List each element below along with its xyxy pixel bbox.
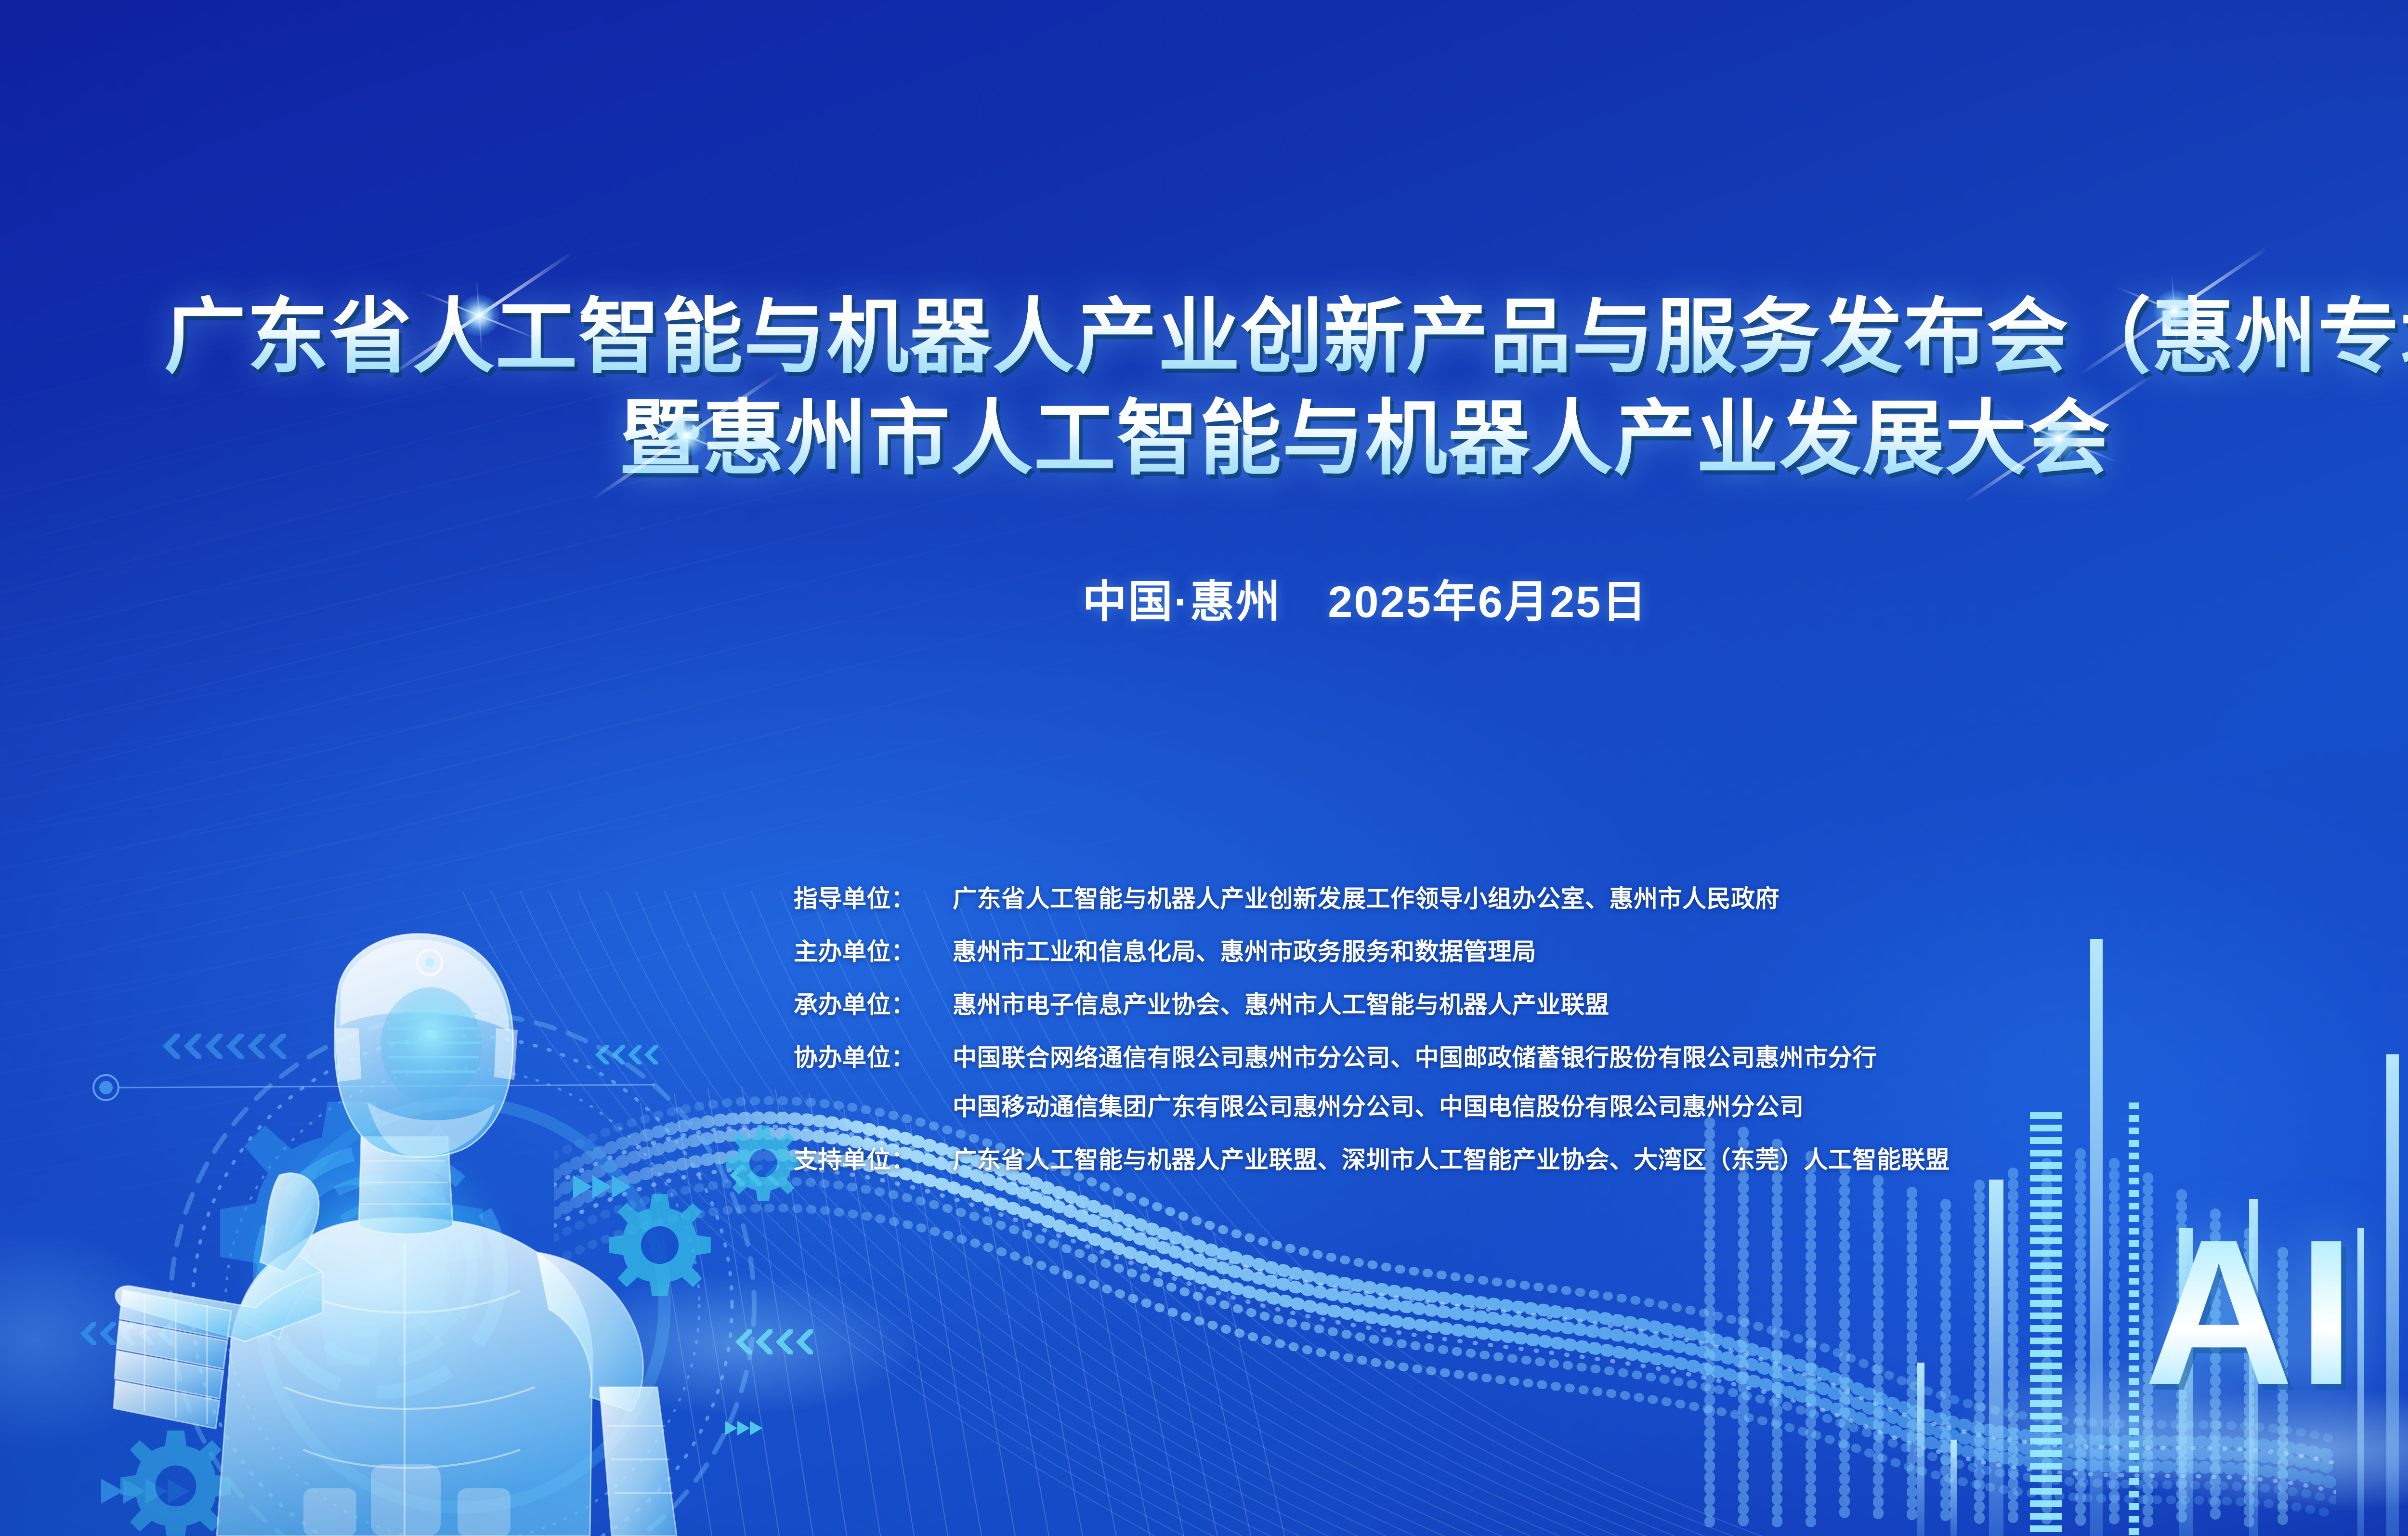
organizer-row: 协办单位：中国联合网络通信有限公司惠州市分公司、中国邮政储蓄银行股份有限公司惠州… xyxy=(794,1038,1950,1073)
organizer-value: 中国移动通信集团广东有限公司惠州分公司、中国电信股份有限公司惠州分公司 xyxy=(953,1088,1804,1122)
event-location: 中国·惠州 xyxy=(1083,578,1282,627)
organizer-label: 承办单位： xyxy=(794,985,953,1020)
organizer-label: 主办单位： xyxy=(794,932,953,967)
organizer-row: 中国移动通信集团广东有限公司惠州分公司、中国电信股份有限公司惠州分公司 xyxy=(794,1088,1950,1122)
organizer-row: 指导单位：广东省人工智能与机器人产业创新发展工作领导小组办公室、惠州市人民政府 xyxy=(794,880,1950,914)
equalizer-bar xyxy=(1989,1180,2003,1536)
organizer-row: 支持单位：广东省人工智能与机器人产业联盟、深圳市人工智能产业协会、大湾区（东莞）… xyxy=(794,1141,1950,1175)
event-datetime: 中国·惠州2025年6月25日 xyxy=(0,566,2408,630)
organizer-label: 支持单位： xyxy=(794,1141,953,1175)
event-date: 2025年6月25日 xyxy=(1328,578,1648,627)
ai-brand-mark: AI xyxy=(2144,1209,2359,1416)
organizer-value: 惠州市电子信息产业协会、惠州市人工智能与机器人产业联盟 xyxy=(953,985,1610,1020)
organizer-value: 广东省人工智能与机器人产业创新发展工作领导小组办公室、惠州市人民政府 xyxy=(953,880,1780,914)
organizer-list: 指导单位：广东省人工智能与机器人产业创新发展工作领导小组办公室、惠州市人民政府主… xyxy=(794,880,1950,1175)
organizer-label: 指导单位： xyxy=(794,880,953,914)
poster-title: 广东省人工智能与机器人产业创新产品与服务发布会（惠州专场） 暨惠州市人工智能与机… xyxy=(0,289,2408,487)
organizer-value: 广东省人工智能与机器人产业联盟、深圳市人工智能产业协会、大湾区（东莞）人工智能联… xyxy=(953,1141,1950,1175)
organizer-row: 承办单位：惠州市电子信息产业协会、惠州市人工智能与机器人产业联盟 xyxy=(794,985,1950,1020)
title-line-2: 暨惠州市人工智能与机器人产业发展大会 xyxy=(0,391,2408,487)
organizer-label: 协办单位： xyxy=(794,1038,953,1073)
organizer-row: 主办单位：惠州市工业和信息化局、惠州市政务服务和数据管理局 xyxy=(794,932,1950,967)
equalizer-bar xyxy=(1917,1363,1924,1536)
equalizer-bar xyxy=(2030,1112,2062,1536)
poster-canvas: AI 广东省人工智能与机器人产业创新产品与服务发布会（惠州专场） 暨惠州市人工智… xyxy=(0,0,2408,1536)
equalizer-bar xyxy=(1950,1440,1957,1536)
title-line-1: 广东省人工智能与机器人产业创新产品与服务发布会（惠州专场） xyxy=(0,289,2408,386)
organizer-value: 惠州市工业和信息化局、惠州市政务服务和数据管理局 xyxy=(953,932,1536,967)
organizer-value: 中国联合网络通信有限公司惠州市分公司、中国邮政储蓄银行股份有限公司惠州市分行 xyxy=(953,1038,1877,1073)
